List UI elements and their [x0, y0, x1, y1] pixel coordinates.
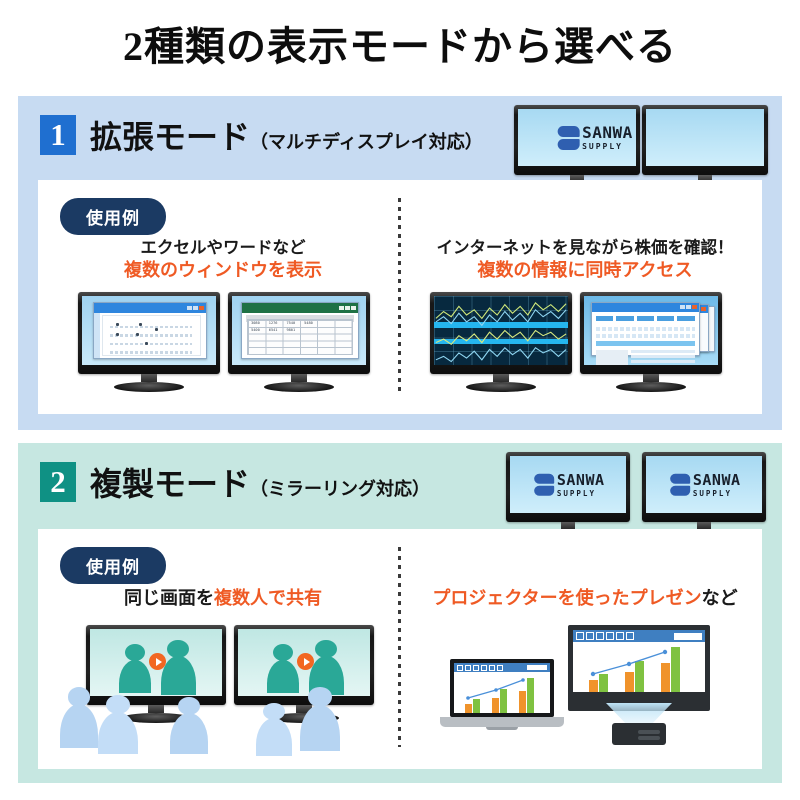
section-2-title-main: 複製モード — [90, 466, 250, 502]
section-1-title-main: 拡張モード — [90, 119, 250, 155]
caption-line-1: エクセルやワードなど — [68, 238, 378, 259]
monitor-spreadsheet: 3080 1276 7540 5480 5400 6541 9801 — [228, 292, 370, 392]
logo-tagline: SUPPLY — [557, 489, 605, 497]
caption-line-2: など — [702, 588, 738, 608]
presenter-silhouette — [267, 644, 299, 692]
section-1-example-pill: 使用例 — [60, 198, 166, 235]
section-2-header: 2 複製モード（ミラーリング対応） — [18, 443, 782, 517]
caption-line-2: 複数人で共有 — [214, 588, 322, 608]
section-duplicate-mode: 2 複製モード（ミラーリング対応） — [18, 443, 782, 783]
projector-beam — [606, 703, 672, 725]
presenter-silhouette — [309, 640, 343, 694]
trend-line — [573, 642, 705, 692]
section-2-monitors-mirrored: SANWA SUPPLY — [506, 452, 768, 530]
section-1-example-2-illustration — [430, 292, 740, 392]
section-2-example-pill: 使用例 — [60, 547, 166, 584]
projector-chart-window — [573, 630, 705, 692]
monitor-left: SANWA SUPPLY — [514, 105, 640, 191]
monitor-document — [78, 292, 220, 392]
section-1-example-card: 使用例 エクセルやワードなど 複数のウィンドウを表示 — [38, 180, 762, 414]
logo-tagline: SUPPLY — [582, 143, 633, 151]
audience-silhouette — [170, 697, 208, 751]
section-2-title: 複製モード（ミラーリング対応） — [90, 459, 430, 505]
logo-tagline: SUPPLY — [693, 489, 741, 497]
logo-brand: SANWA — [582, 125, 633, 141]
monitor-browser — [580, 292, 722, 392]
caption-line-1: 同じ画面を — [124, 588, 214, 608]
caption-line-1: インターネットを見ながら株価を確認！ — [420, 238, 750, 259]
presenter-silhouette — [119, 644, 151, 692]
sanwa-logo-mirror-right: SANWA SUPPLY — [670, 472, 738, 497]
section-1-monitors-extended: SANWA SUPPLY — [514, 105, 768, 183]
stock-chart-screen — [434, 296, 568, 365]
monitor-mirror-right: SANWA SUPPLY — [642, 452, 766, 538]
audience-silhouette — [256, 703, 292, 753]
monitor-stock-chart — [430, 292, 572, 392]
infographic-page: 2種類の表示モードから選べる 1 拡張モード（マルチディスプレイ対応） — [0, 0, 800, 800]
section-1-divider — [398, 198, 401, 396]
section-1-header: 1 拡張モード（マルチディスプレイ対応） — [18, 96, 782, 170]
section-2-example-2-illustration — [430, 625, 750, 749]
spreadsheet-grid: 3080 1276 7540 5480 5400 6541 9801 — [247, 319, 353, 355]
monitor-mirror-left: SANWA SUPPLY — [506, 452, 630, 538]
section-extended-mode: 1 拡張モード（マルチディスプレイ対応） — [18, 96, 782, 430]
section-2-example-card: 使用例 同じ画面を複数人で共有 — [38, 529, 762, 769]
document-window — [93, 302, 208, 359]
section-2-number-badge: 2 — [40, 462, 76, 502]
section-2-divider — [398, 547, 401, 747]
audience-silhouette — [300, 687, 340, 747]
sanwa-logo-left-half: SANWA SUPPLY — [557, 125, 630, 151]
laptop-touchpad — [486, 727, 518, 730]
caption-line-2: 複数のウィンドウを表示 — [68, 259, 378, 282]
presenter-silhouette — [161, 640, 195, 694]
projector-screen — [568, 625, 710, 711]
section-1-example-1-illustration: 3080 1276 7540 5480 5400 6541 9801 — [78, 292, 378, 392]
logo-brand: SANWA — [693, 472, 741, 487]
section-1-example-2-caption: インターネットを見ながら株価を確認！ 複数の情報に同時アクセス — [420, 238, 750, 282]
section-2-example-1-illustration — [60, 625, 390, 749]
section-2-title-sub: （ミラーリング対応） — [250, 479, 430, 499]
caption-line-1: プロジェクターを使ったプレゼン — [432, 588, 701, 608]
monitor-right — [642, 105, 768, 191]
projector-body — [612, 723, 666, 745]
audience-silhouette — [98, 695, 138, 751]
section-1-title: 拡張モード（マルチディスプレイ対応） — [90, 112, 483, 158]
section-1-title-sub: （マルチディスプレイ対応） — [250, 132, 483, 152]
section-2-example-1-caption: 同じ画面を複数人で共有 — [68, 587, 378, 610]
laptop-base — [440, 717, 564, 727]
browser-window-front — [591, 302, 700, 356]
section-1-example-1-caption: エクセルやワードなど 複数のウィンドウを表示 — [68, 238, 378, 282]
audience-silhouette — [60, 687, 98, 745]
caption-line-2: 複数の情報に同時アクセス — [420, 259, 750, 282]
page-title: 2種類の表示モードから選べる — [0, 14, 800, 72]
section-2-example-2-caption: プロジェクターを使ったプレゼンなど — [420, 587, 750, 610]
section-1-number-badge: 1 — [40, 115, 76, 155]
laptop — [440, 659, 564, 733]
logo-brand: SANWA — [557, 472, 605, 487]
laptop-chart-window — [454, 663, 550, 713]
sanwa-logo-mirror-left: SANWA SUPPLY — [534, 472, 602, 497]
spreadsheet-window: 3080 1276 7540 5480 5400 6541 9801 — [241, 302, 358, 359]
